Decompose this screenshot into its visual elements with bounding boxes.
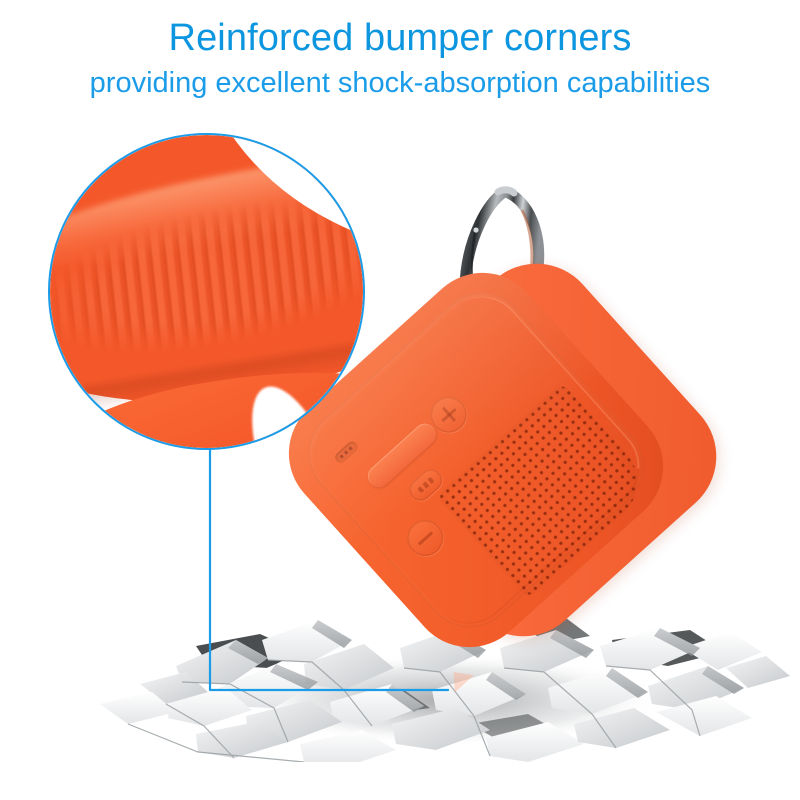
bumper-corner-mark	[444, 663, 474, 692]
magnifier-content	[50, 135, 363, 448]
magnified-bumper-corner	[48, 133, 365, 450]
product-feature-slide: Reinforced bumper corners providing exce…	[0, 0, 800, 800]
